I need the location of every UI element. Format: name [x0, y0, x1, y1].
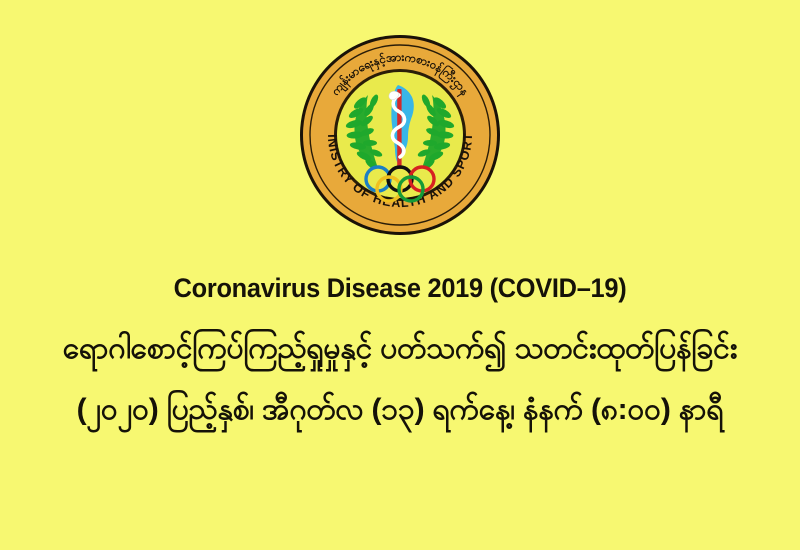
page-title-english: Coronavirus Disease 2019 (COVID–19) [24, 272, 776, 306]
announcement-text-block: Coronavirus Disease 2019 (COVID–19) ရောဂ… [0, 272, 800, 429]
page-subtitle-burmese: ရောဂါစောင့်ကြပ်ကြည့်ရှုမှုနှင့် ပတ်သက်၍ … [0, 329, 800, 368]
announcement-page: ကျန်းမာရေးနှင့်အားကစားဝန်ကြီးဌာန MINISTR… [0, 0, 800, 550]
seal-graphic: ကျန်းမာရေးနှင့်အားကစားဝန်ကြီးဌာန MINISTR… [298, 33, 502, 237]
page-datetime-burmese: (၂၀၂၀) ပြည့်နှစ်၊ အီဂုတ်လ (၁၃) ရက်နေ့၊ န… [0, 390, 800, 429]
ministry-seal-logo: ကျန်းမာရေးနှင့်အားကစားဝန်ကြီးဌာန MINISTR… [298, 33, 502, 237]
